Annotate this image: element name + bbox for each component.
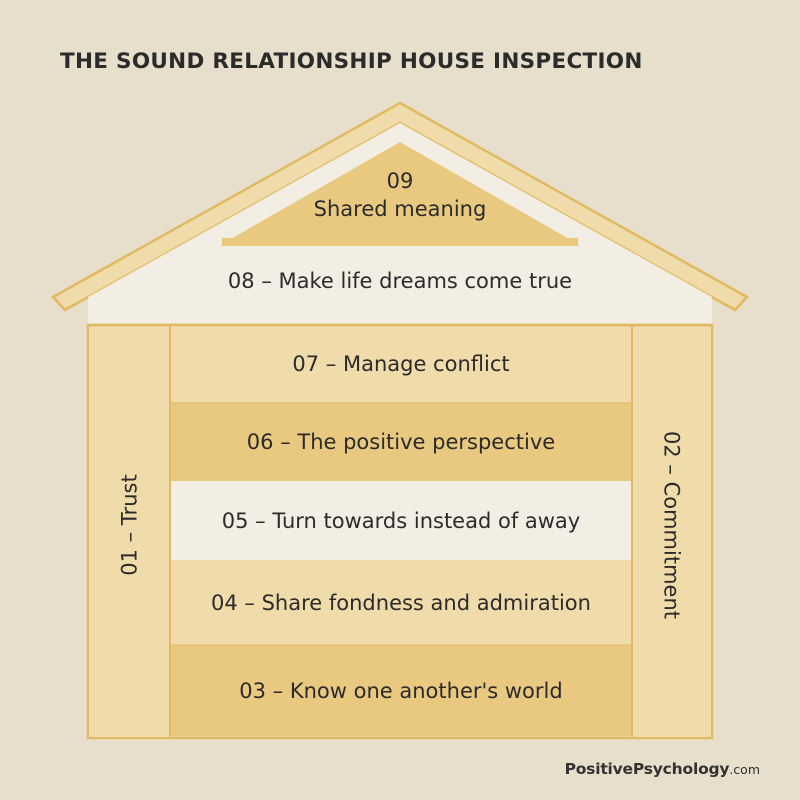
attic-text: Shared meaning: [230, 196, 570, 224]
band-label-04: 04 – Share fondness and admiration: [170, 560, 632, 645]
band-label-07: 07 – Manage conflict: [170, 325, 632, 403]
band-label-05: 05 – Turn towards instead of away: [170, 481, 632, 560]
brand-name: PositivePsychology: [565, 760, 730, 778]
band-label-06: 06 – The positive perspective: [170, 403, 632, 481]
band-label-03: 03 – Know one another's world: [170, 645, 632, 736]
attic-base-fill: [222, 238, 578, 246]
attic-label: 09 Shared meaning: [230, 168, 570, 224]
right-pillar-label: 02 – Commitment: [632, 319, 712, 732]
left-pillar-label: 01 – Trust: [89, 319, 171, 732]
brand-tld: .com: [729, 762, 760, 777]
attic-number: 09: [230, 168, 570, 196]
band-label-08: 08 – Make life dreams come true: [150, 262, 650, 300]
diagram-canvas: THE SOUND RELATIONSHIP HOUSE INSPECTION: [0, 0, 800, 800]
brand-footer: PositivePsychology.com: [565, 760, 760, 778]
